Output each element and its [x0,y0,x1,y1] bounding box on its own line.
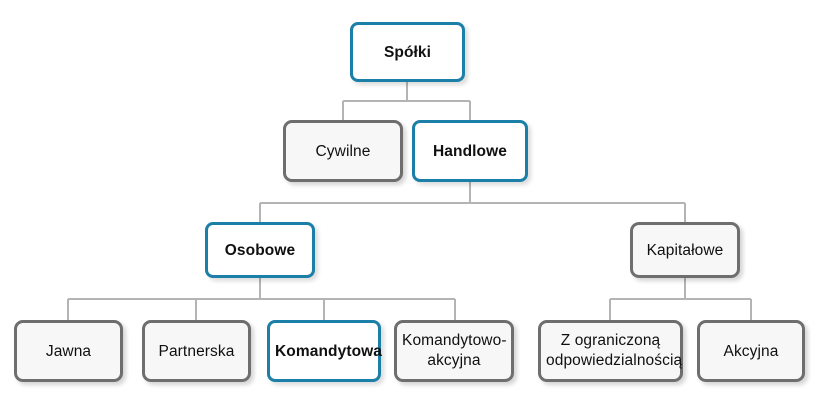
node-handlowe[interactable]: Handlowe [412,120,528,182]
node-handlowe-label: Handlowe [420,142,520,161]
node-osobowe[interactable]: Osobowe [205,222,315,278]
org-chart-diagram: Spółki Cywilne Handlowe Osobowe Kapitało… [0,0,820,420]
node-akcyjna-label: Akcyjna [705,342,797,361]
node-jawna[interactable]: Jawna [14,320,123,382]
node-zoo-label-line1: Z ograniczoną [561,332,661,349]
node-partnerska[interactable]: Partnerska [142,320,251,382]
node-cywilne[interactable]: Cywilne [283,120,403,182]
node-akcyjna[interactable]: Akcyjna [697,320,805,382]
node-komandytowa-label: Komandytowa [275,342,373,361]
node-kapitalowe[interactable]: Kapitałowe [630,222,740,278]
node-komandytowo-akcyjna-label: Komandytowo- akcyjna [402,331,506,371]
node-kapitalowe-label: Kapitałowe [638,241,732,260]
node-komandytowo-akcyjna-label-line1: Komandytowo- [402,332,507,349]
node-osobowe-label: Osobowe [213,241,307,260]
node-cywilne-label: Cywilne [291,142,395,161]
node-jawna-label: Jawna [22,342,115,361]
node-komandytowo-akcyjna[interactable]: Komandytowo- akcyjna [394,320,514,382]
node-zoo-label-line2: odpowiedzialnością [546,352,682,369]
node-komandytowa[interactable]: Komandytowa [267,320,381,382]
node-partnerska-label: Partnerska [150,342,243,361]
node-z-ograniczona-odpowiedzialnoscia[interactable]: Z ograniczoną odpowiedzialnością [538,320,683,382]
node-z-ograniczona-odpowiedzialnoscia-label: Z ograniczoną odpowiedzialnością [546,331,675,371]
node-komandytowo-akcyjna-label-line2: akcyjna [427,352,480,369]
node-spolki[interactable]: Spółki [350,22,465,82]
node-spolki-label: Spółki [358,43,457,62]
